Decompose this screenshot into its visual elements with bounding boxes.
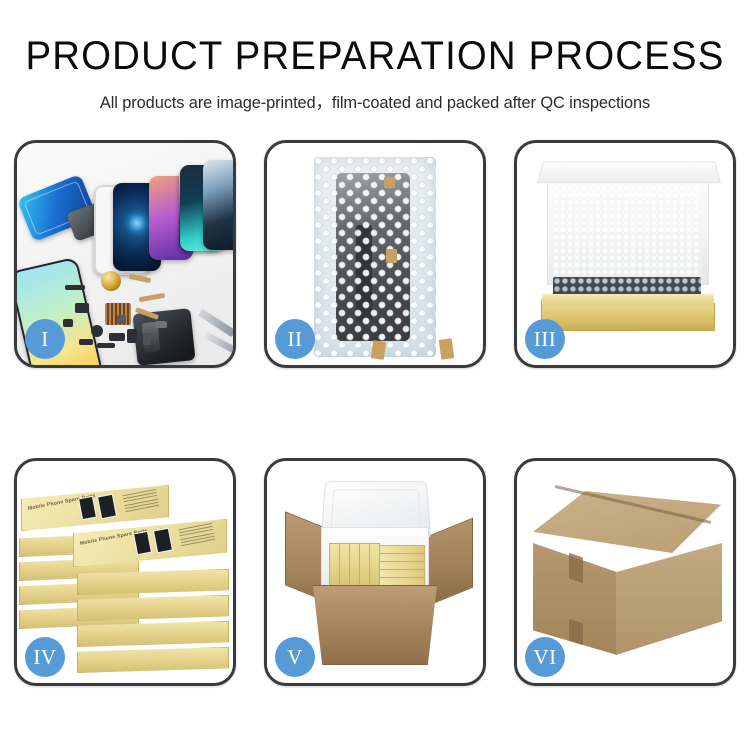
process-step-card-4: Mobile Phone Spare PartsMobile Phone Spa… [14,458,236,686]
tape-strip-3 [371,340,386,360]
process-step-grid: I II III [14,140,736,686]
carton-tape-lower [569,619,583,646]
lid-phone-image-1 [133,531,152,555]
step-badge-4: IV [25,637,65,677]
bubble-texture [314,157,436,357]
speaker-module [101,271,121,291]
lid-phone-image-2 [97,493,117,519]
lid-spec-text-block [179,523,216,548]
page-header: PRODUCT PREPARATION PROCESS All products… [0,0,750,113]
small-part-9 [155,321,167,328]
process-step-card-1: I [14,140,236,368]
white-foam-sheet [553,185,701,277]
process-step-card-6: VI [514,458,736,686]
step-badge-2: II [275,319,315,359]
small-part-5 [127,329,137,343]
step-badge-6: VI [525,637,565,677]
small-part-11 [97,343,115,348]
small-part-1 [65,285,85,290]
carton-body [309,585,441,665]
step-badge-5: V [275,637,315,677]
tape-strip-2 [386,249,397,263]
process-step-card-5: V [264,458,486,686]
small-part-2 [75,303,89,313]
page-subtitle: All products are image-printed，film-coat… [0,89,750,113]
small-part-8 [143,333,151,345]
step-badge-3: III [525,319,565,359]
process-step-card-2: II [264,140,486,368]
lid-phone-image-2 [152,528,172,554]
lid-phone-image-1 [78,496,97,520]
phone-rear-chassis [132,308,195,365]
small-part-3 [91,325,103,337]
flat-yellow-box-5 [379,577,425,586]
tape-strip-1 [384,177,395,188]
small-part-10 [117,315,126,324]
yellow-box-tray [541,303,715,331]
stacked-box-front-4 [77,647,229,673]
carton-tape-upper [569,553,583,584]
process-step-card-3: III [514,140,736,368]
bubble-wrap-bag [314,157,436,357]
page-title: PRODUCT PREPARATION PROCESS [15,36,735,76]
phone-display-silver [203,160,233,250]
printed-lid-lower: Mobile Phone Spare Parts [73,519,227,567]
tape-strip-4 [439,338,455,360]
small-part-7 [63,319,73,327]
printed-lid-upper: Mobile Phone Spare Parts [21,485,169,531]
yellow-boxes-inside [329,543,421,585]
small-part-4 [109,333,125,341]
small-part-6 [79,339,93,345]
lid-spec-text-block [123,489,160,514]
step-badge-1: I [25,319,65,359]
